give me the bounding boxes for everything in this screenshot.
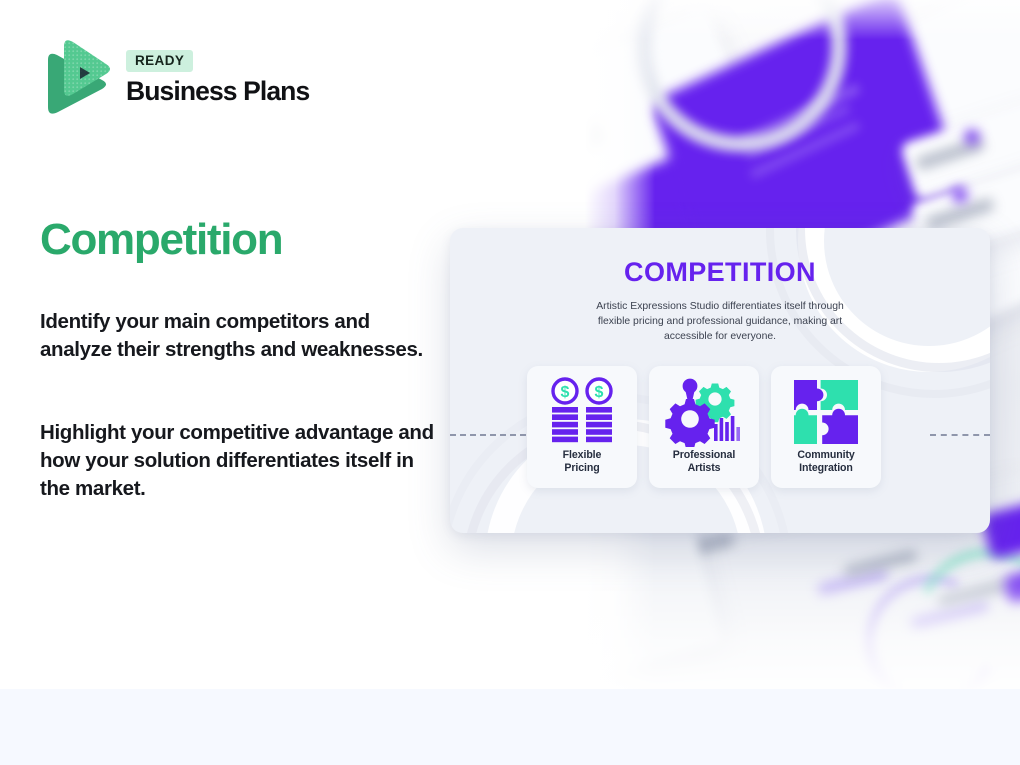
slide-card[interactable]: COMPETITION Artistic Expressions Studio … bbox=[450, 228, 990, 533]
play-triangles-logo-icon bbox=[40, 38, 112, 118]
ready-badge: READY bbox=[126, 50, 193, 72]
feature-card-label-line1: Flexible bbox=[563, 449, 602, 461]
puzzle-pieces-icon bbox=[792, 376, 860, 448]
feature-card-label: Flexible Pricing bbox=[563, 449, 602, 475]
body-paragraph-2: Highlight your competitive advantage and… bbox=[40, 419, 440, 503]
svg-text:$: $ bbox=[561, 384, 570, 401]
brand-logo-text: READY Business Plans bbox=[126, 50, 309, 105]
feature-card-flexible-pricing[interactable]: $ $ bbox=[527, 366, 637, 488]
feature-card-label-line2: Pricing bbox=[564, 462, 599, 474]
svg-text:$: $ bbox=[595, 384, 604, 401]
photo-fade-bottom bbox=[585, 560, 1020, 690]
brand-logo[interactable]: READY Business Plans bbox=[40, 38, 309, 118]
feature-card-label-line2: Integration bbox=[799, 462, 853, 474]
feature-card-label-line1: Professional bbox=[673, 449, 735, 461]
bottom-band bbox=[0, 689, 1020, 765]
brand-name: Business Plans bbox=[126, 78, 309, 106]
feature-card-professional-artists[interactable]: Professional Artists bbox=[649, 366, 759, 488]
feature-card-community-integration[interactable]: Community Integration bbox=[771, 366, 881, 488]
feature-card-label-line2: Artists bbox=[688, 462, 721, 474]
slide-title: COMPETITION bbox=[450, 257, 990, 288]
feature-card-label: Professional Artists bbox=[673, 449, 735, 475]
slide-subtitle: Artistic Expressions Studio differentiat… bbox=[580, 300, 860, 344]
body-paragraph-1: Identify your main competitors and analy… bbox=[40, 308, 440, 364]
slide-preview-page: READY Business Plans Competition Identif… bbox=[0, 0, 1020, 765]
connector-dashed-line bbox=[450, 434, 536, 436]
connector-dashed-line bbox=[930, 434, 990, 436]
coin-stacks-icon: $ $ bbox=[544, 376, 620, 448]
gears-lightbulb-chart-icon bbox=[664, 376, 744, 448]
feature-card-list: $ $ bbox=[527, 366, 881, 488]
feature-card-label: Community Integration bbox=[797, 449, 854, 475]
feature-card-label-line1: Community bbox=[797, 449, 854, 461]
page-title: Competition bbox=[40, 217, 282, 263]
